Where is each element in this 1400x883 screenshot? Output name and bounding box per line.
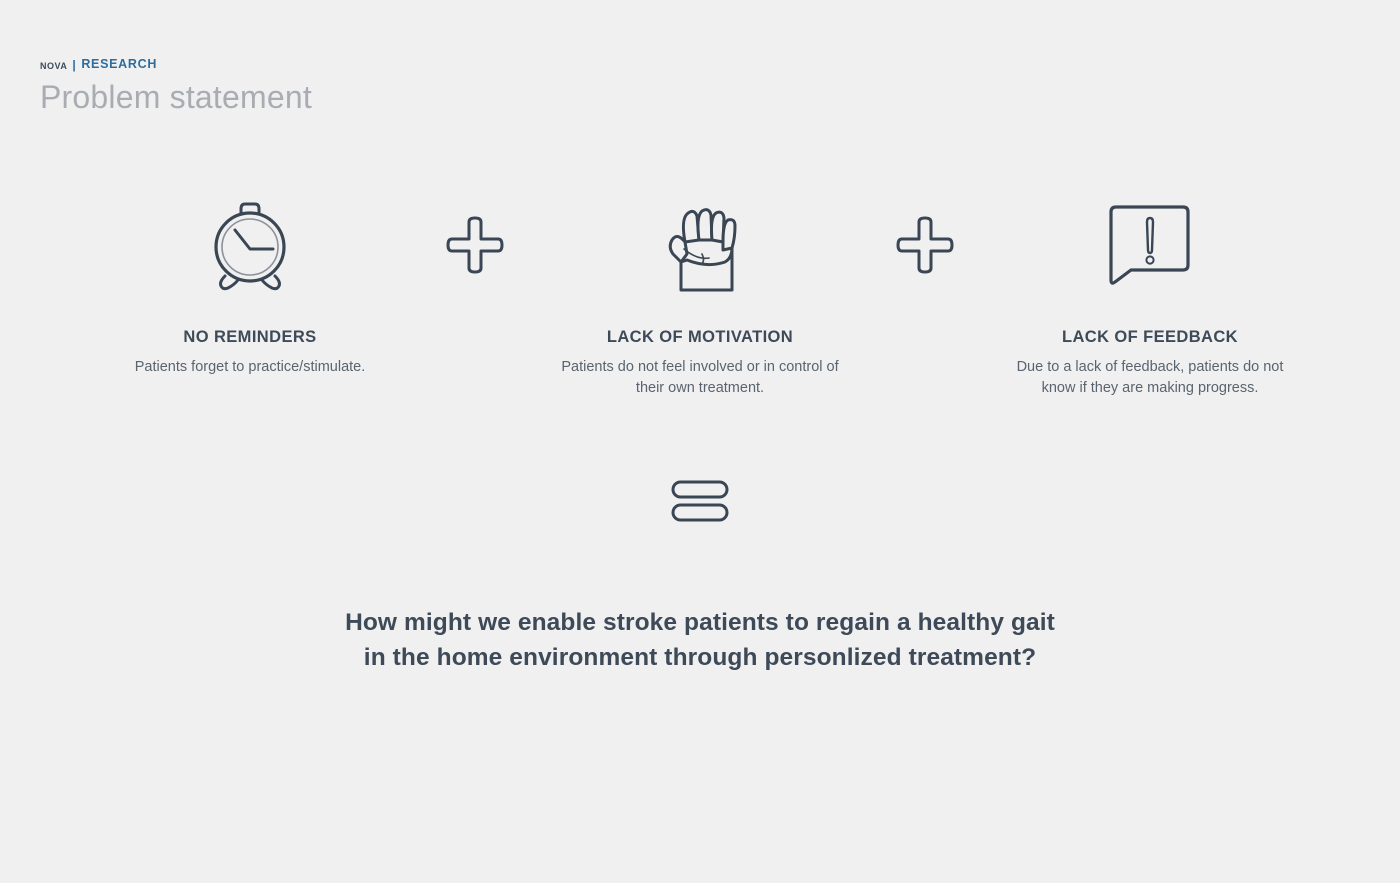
page-title: Problem statement — [40, 79, 312, 116]
problem-body: Due to a lack of feedback, patients do n… — [1000, 357, 1300, 399]
problem-heading: NO REMINDERS — [183, 328, 316, 348]
brand-logo: nova | RESEARCH — [40, 58, 312, 71]
problem-column-lack-of-feedback: LACK OF FEEDBACK Due to a lack of feedba… — [1000, 190, 1300, 399]
problem-body: Patients do not feel involved or in cont… — [550, 357, 850, 399]
statement-line-2: in the home environment through personli… — [0, 641, 1400, 676]
problem-body: Patients forget to practice/stimulate. — [135, 357, 366, 378]
brand-separator: | — [72, 59, 76, 71]
problem-columns: NO REMINDERS Patients forget to practice… — [0, 190, 1400, 399]
problem-column-lack-of-motivation: LACK OF MOTIVATION Patients do not feel … — [550, 190, 850, 399]
statement-line-1: How might we enable stroke patients to r… — [0, 606, 1400, 641]
problem-column-no-reminders: NO REMINDERS Patients forget to practice… — [100, 190, 400, 378]
alarm-clock-icon — [197, 190, 303, 300]
problem-heading: LACK OF MOTIVATION — [607, 328, 793, 348]
brand-research-text: RESEARCH — [81, 58, 157, 71]
brand-nova-text: nova — [40, 58, 67, 71]
page-header: nova | RESEARCH Problem statement — [40, 58, 312, 116]
plus-icon — [850, 190, 1000, 300]
equals-icon — [0, 470, 1400, 528]
raised-fist-icon — [647, 190, 753, 300]
problem-statement-question: How might we enable stroke patients to r… — [0, 606, 1400, 676]
speech-bubble-exclamation-icon — [1097, 190, 1203, 300]
plus-icon — [400, 190, 550, 300]
problem-heading: LACK OF FEEDBACK — [1062, 328, 1238, 348]
